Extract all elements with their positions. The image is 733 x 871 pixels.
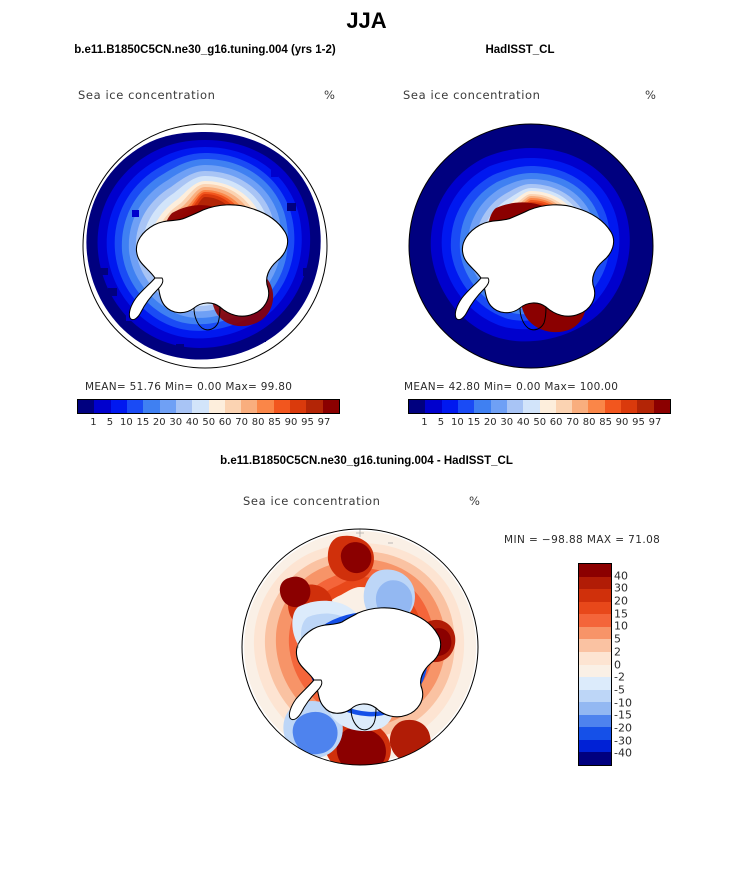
tick: 10 — [614, 620, 628, 633]
panel-units-obs: % — [645, 88, 657, 102]
colorbar-obs-ticks: 1 5 10 15 20 30 40 50 60 70 80 85 90 95 … — [416, 417, 663, 428]
tick: 95 — [299, 417, 315, 428]
colorbar-model-ticks: 1 5 10 15 20 30 40 50 60 70 80 85 90 95 … — [85, 417, 332, 428]
tick: 20 — [151, 417, 167, 428]
tick: 97 — [316, 417, 332, 428]
tick: 70 — [233, 417, 249, 428]
map-diff-field — [242, 529, 478, 775]
tick: 40 — [614, 569, 628, 582]
tick: 30 — [168, 417, 184, 428]
colorbar-model-bands — [77, 399, 340, 414]
colorbar-model[interactable]: 1 5 10 15 20 30 40 50 60 70 80 85 90 95 … — [77, 399, 340, 428]
panel-units-model: % — [324, 88, 336, 102]
tick: 0 — [614, 658, 621, 671]
tick: -5 — [614, 683, 625, 696]
minmax-diff: MIN = −98.88 MAX = 71.08 — [504, 534, 660, 546]
stats-obs: MEAN= 42.80 Min= 0.00 Max= 100.00 — [404, 381, 618, 393]
tick: 15 — [466, 417, 482, 428]
tick: 30 — [499, 417, 515, 428]
colorbar-diff[interactable]: 40 30 20 15 10 5 2 0 -2 -5 -10 -15 -20 -… — [578, 563, 698, 766]
tick: 95 — [630, 417, 646, 428]
stats-model: MEAN= 51.76 Min= 0.00 Max= 99.80 — [85, 381, 292, 393]
tick: 70 — [564, 417, 580, 428]
colorbar-obs[interactable]: 1 5 10 15 20 30 40 50 60 70 80 85 90 95 … — [408, 399, 671, 428]
map-diff[interactable] — [238, 525, 488, 777]
map-obs-field — [409, 124, 653, 368]
panel-varlabel-obs: Sea ice concentration — [403, 88, 541, 102]
tick: 10 — [449, 417, 465, 428]
tick: 20 — [482, 417, 498, 428]
panel-title-model: b.e11.B1850C5CN.ne30_g16.tuning.004 (yrs… — [20, 44, 390, 56]
tick: 20 — [614, 595, 628, 608]
tick: 50 — [531, 417, 547, 428]
tick: 30 — [614, 582, 628, 595]
colorbar-obs-bands — [408, 399, 671, 414]
tick: 5 — [614, 633, 621, 646]
tick: -15 — [614, 709, 632, 722]
tick: -20 — [614, 722, 632, 735]
tick: 85 — [266, 417, 282, 428]
tick: -30 — [614, 734, 632, 747]
tick: 97 — [647, 417, 663, 428]
tick: 80 — [581, 417, 597, 428]
tick: 85 — [597, 417, 613, 428]
tick: 50 — [200, 417, 216, 428]
tick: 1 — [85, 417, 101, 428]
tick: 90 — [283, 417, 299, 428]
tick: -10 — [614, 696, 632, 709]
tick: 90 — [614, 417, 630, 428]
season-title: JJA — [0, 8, 733, 34]
tick: 2 — [614, 645, 621, 658]
tick: 5 — [433, 417, 449, 428]
tick: -40 — [614, 747, 632, 760]
tick: 10 — [118, 417, 134, 428]
panel-units-diff: % — [469, 494, 481, 508]
tick: 40 — [184, 417, 200, 428]
tick: 15 — [135, 417, 151, 428]
tick: -2 — [614, 671, 625, 684]
panel-title-diff: b.e11.B1850C5CN.ne30_g16.tuning.004 - Ha… — [0, 455, 733, 467]
tick: 15 — [614, 607, 628, 620]
panel-varlabel-model: Sea ice concentration — [78, 88, 216, 102]
tick: 1 — [416, 417, 432, 428]
colorbar-diff-bands — [578, 563, 612, 766]
map-obs[interactable] — [398, 118, 664, 380]
map-model-field — [83, 124, 327, 368]
tick: 40 — [515, 417, 531, 428]
tick: 60 — [217, 417, 233, 428]
panel-title-obs: HadISST_CL — [400, 44, 640, 56]
map-model[interactable] — [72, 118, 338, 380]
tick: 60 — [548, 417, 564, 428]
tick: 80 — [250, 417, 266, 428]
tick: 5 — [102, 417, 118, 428]
panel-varlabel-diff: Sea ice concentration — [243, 494, 381, 508]
